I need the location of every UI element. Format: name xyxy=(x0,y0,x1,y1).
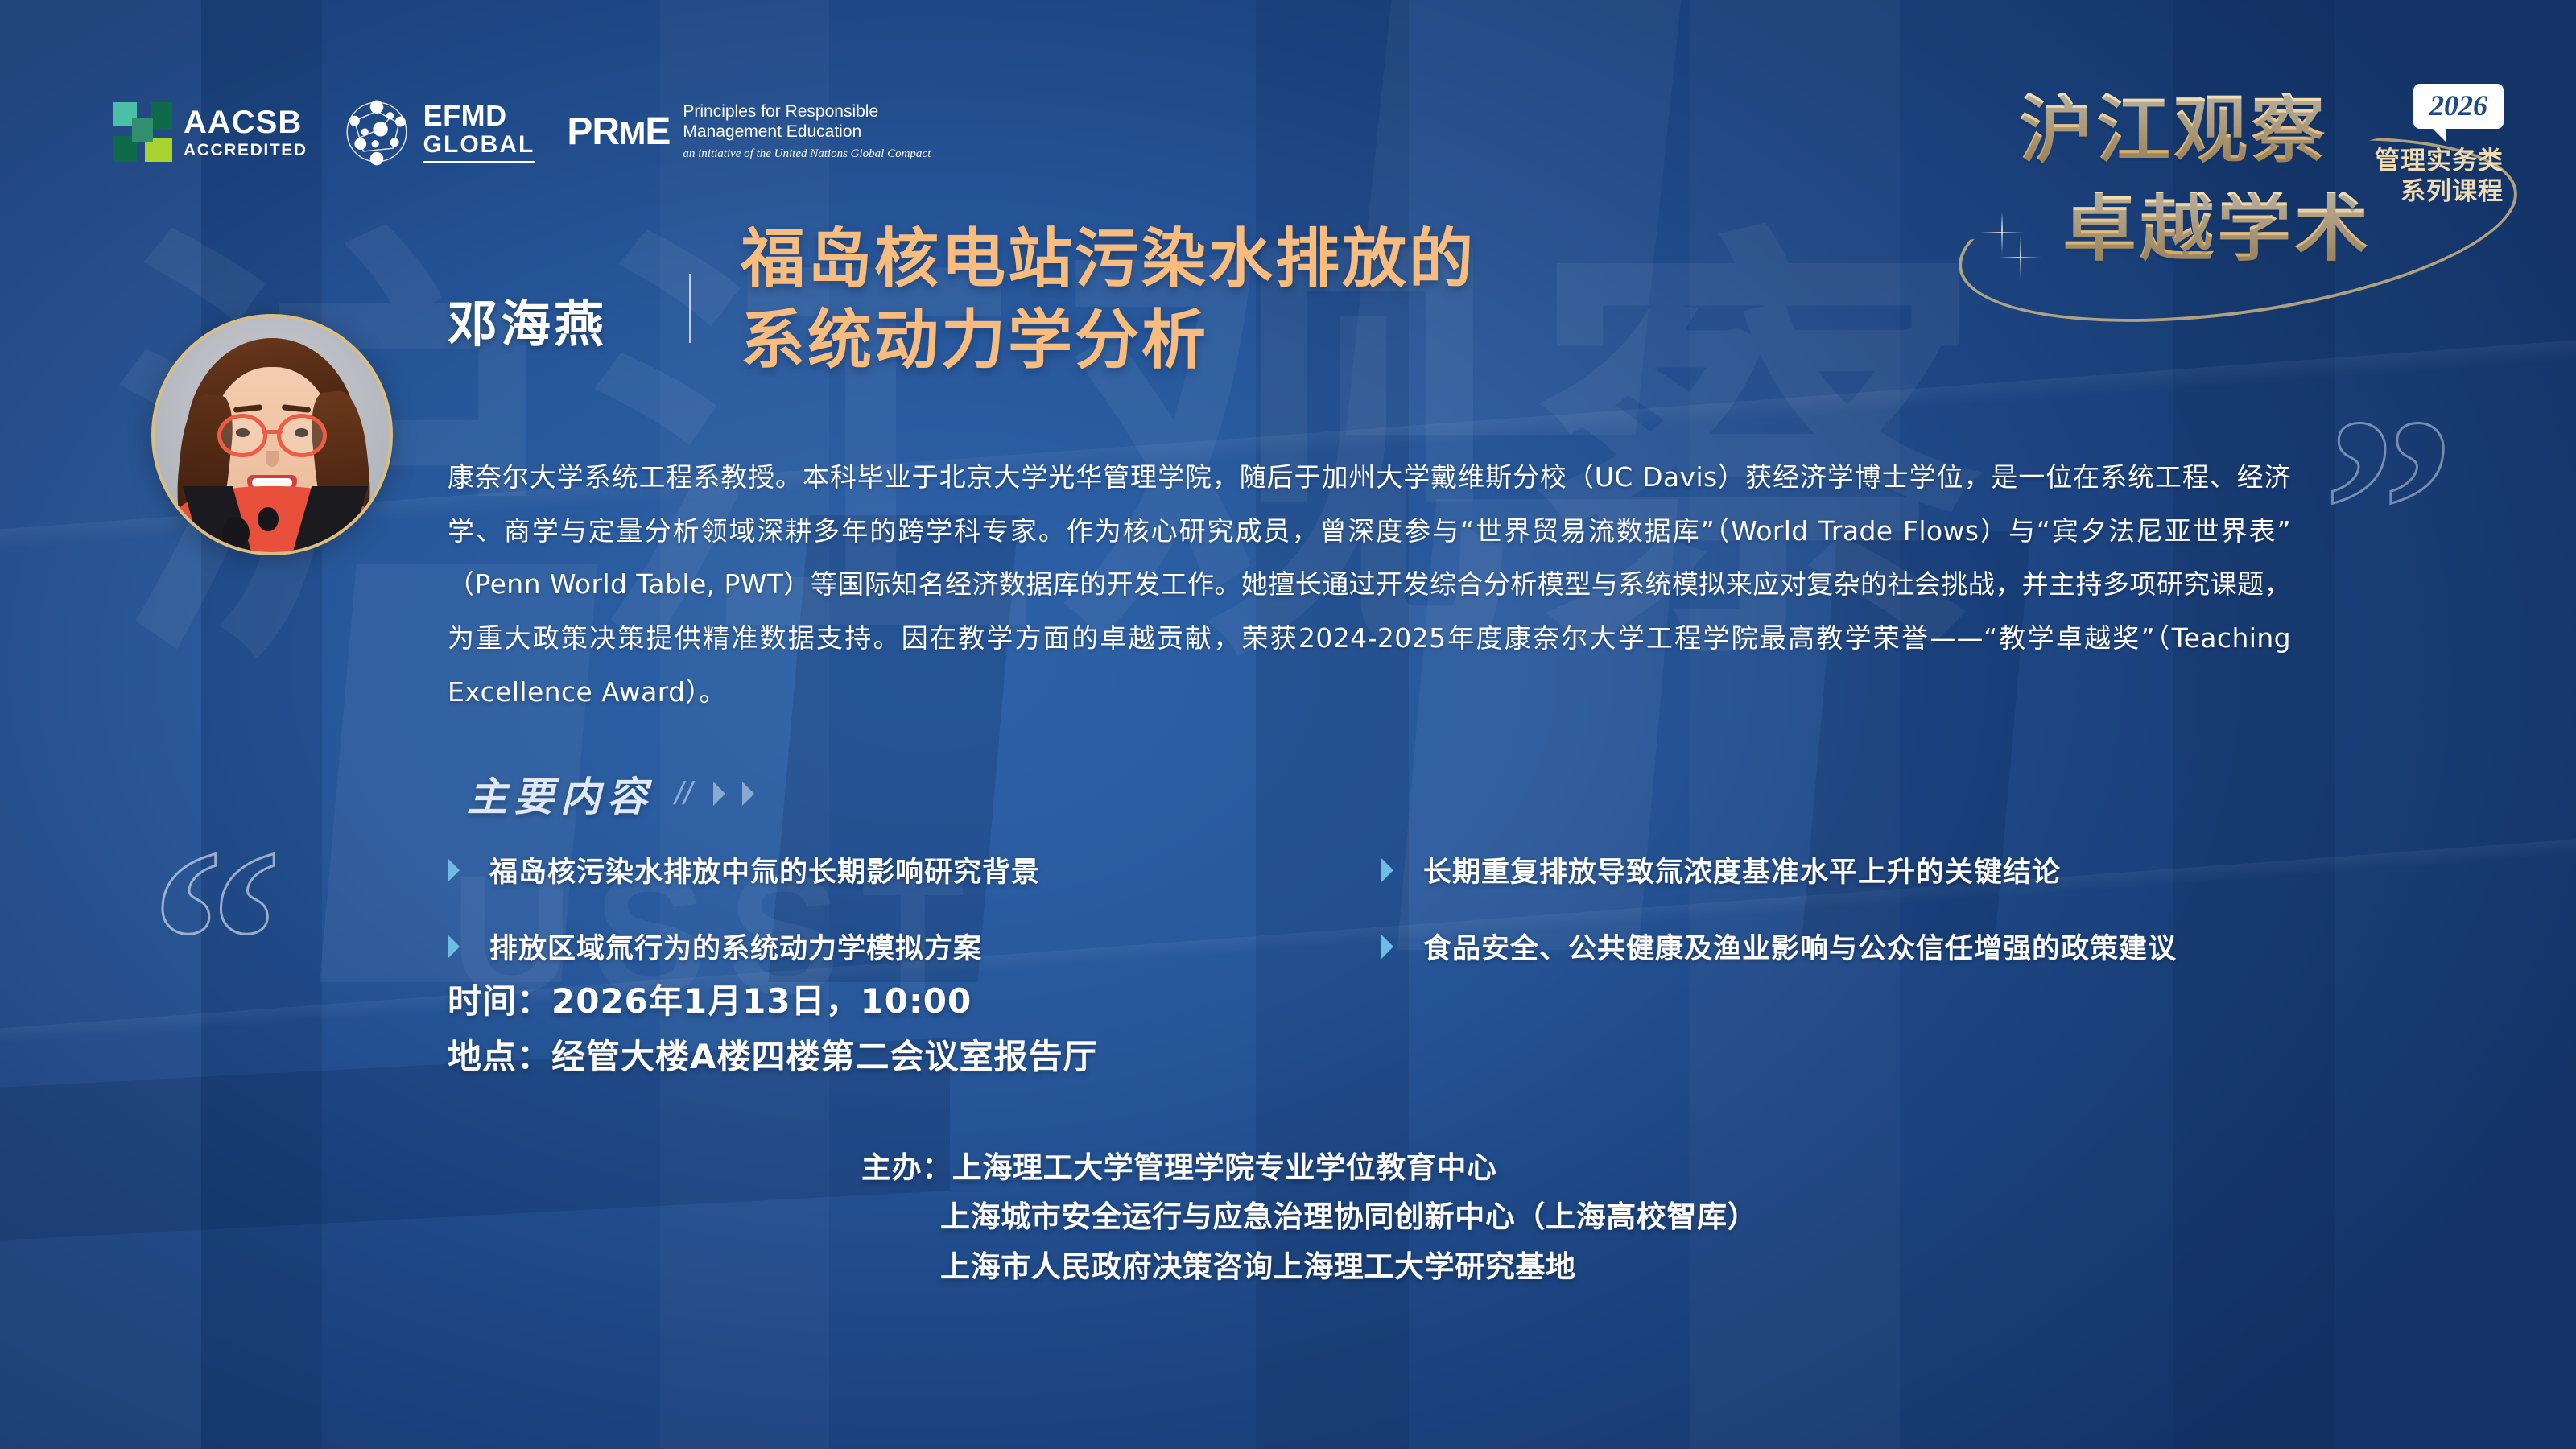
triangle-bullet-icon xyxy=(448,935,472,959)
prme-mark-e: E xyxy=(645,110,670,153)
bullet-item: 长期重复排放导致氚浓度基准水平上升的关键结论 xyxy=(1381,849,2283,890)
efmd-network-icon xyxy=(340,95,414,169)
brand-line-1: 沪江观察 xyxy=(2019,93,2328,167)
triangle-bullet-icon xyxy=(448,858,472,882)
accreditation-logos: AACSB ACCREDITED EFMD xyxy=(113,95,931,169)
quote-open-decor: “ xyxy=(150,809,283,1075)
aacsb-name: AACSB xyxy=(184,106,308,138)
poster-canvas: 沪江观察 USST AACSB ACCREDITED xyxy=(0,0,2576,1449)
event-location: 地点：经管大楼A楼四楼第二会议室报告厅 xyxy=(448,1030,1098,1085)
brand-subtitle-1: 管理实务类 xyxy=(2375,147,2504,177)
brand-subtitle: 管理实务类 系列课程 xyxy=(2375,147,2504,208)
triangle-bullet-icon xyxy=(1381,935,1406,959)
talk-title-line-1: 福岛核电站污染水排放的 xyxy=(741,219,1476,300)
sparkle-small-icon xyxy=(2009,246,2032,269)
organizer-line-2: 上海城市安全运行与应急治理协同创新中心（上海高校智库） xyxy=(861,1192,1757,1241)
prme-line-2: Management Education xyxy=(683,122,931,142)
organizers: 主办：上海理工大学管理学院专业学位教育中心 上海城市安全运行与应急治理协同创新中… xyxy=(861,1143,1757,1291)
aacsb-logo: AACSB ACCREDITED xyxy=(113,102,308,162)
talk-title-line-2: 系统动力学分析 xyxy=(741,300,1476,382)
efmd-name: EFMD xyxy=(423,101,535,130)
organizer-line-1: 主办：上海理工大学管理学院专业学位教育中心 xyxy=(861,1143,1757,1192)
aacsb-subtitle: ACCREDITED xyxy=(184,142,308,159)
prme-logo: PRME Principles for Responsible Manageme… xyxy=(567,102,931,162)
prme-line-1: Principles for Responsible xyxy=(683,102,931,122)
bullet-text: 福岛核污染水排放中氚的长期影响研究背景 xyxy=(489,849,1040,890)
series-brand: 沪江观察 卓越学术 2026 管理实务类 系列课程 xyxy=(2004,89,2504,298)
quote-close-decor: ” xyxy=(2322,378,2455,644)
main-content-slash: // xyxy=(675,776,692,812)
talk-title: 福岛核电站污染水排放的 系统动力学分析 xyxy=(741,219,1476,382)
bullet-item: 食品安全、公共健康及渔业影响与公众信任增强的政策建议 xyxy=(1381,926,2283,967)
main-content-bullets: 福岛核污染水排放中氚的长期影响研究背景 长期重复排放导致氚浓度基准水平上升的关键… xyxy=(448,849,2283,967)
prme-line-3: an initiative of the United Nations Glob… xyxy=(683,147,931,162)
organizer-line-3: 上海市人民政府决策咨询上海理工大学研究基地 xyxy=(861,1242,1757,1291)
bullet-text: 排放区域氚行为的系统动力学模拟方案 xyxy=(489,926,982,967)
bullet-text: 食品安全、公共健康及渔业影响与公众信任增强的政策建议 xyxy=(1423,926,2177,967)
bullet-item: 福岛核污染水排放中氚的长期影响研究背景 xyxy=(448,849,1349,890)
speaker-name: 邓海燕 xyxy=(448,283,607,356)
main-content-heading: 主要内容 // xyxy=(467,765,766,823)
event-time: 时间：2026年1月13日，10:00 xyxy=(448,974,1098,1030)
prme-mark: PRME xyxy=(567,113,670,151)
brand-subtitle-2: 系列课程 xyxy=(2375,177,2504,208)
year-badge: 2026 xyxy=(2413,84,2504,129)
chevron-right-icon xyxy=(713,782,766,806)
bullet-item: 排放区域氚行为的系统动力学模拟方案 xyxy=(448,926,1349,967)
efmd-subtitle: GLOBAL xyxy=(423,133,535,157)
bullet-text: 长期重复排放导致氚浓度基准水平上升的关键结论 xyxy=(1423,849,2061,890)
speaker-title-divider xyxy=(689,274,691,343)
main-content-title: 主要内容 xyxy=(467,765,654,823)
speaker-bio: 康奈尔大学系统工程系教授。本科毕业于北京大学光华管理学院，随后于加州大学戴维斯分… xyxy=(448,451,2291,719)
brand-line-2: 卓越学术 xyxy=(2062,192,2372,266)
prme-mark-pr: PR xyxy=(567,110,619,153)
event-meta: 时间：2026年1月13日，10:00 地点：经管大楼A楼四楼第二会议室报告厅 xyxy=(448,974,1098,1085)
speaker-avatar xyxy=(151,314,393,555)
aacsb-mark-icon xyxy=(113,102,172,162)
efmd-logo: EFMD GLOBAL xyxy=(340,95,535,169)
efmd-rule xyxy=(423,161,535,163)
prme-mark-m: M xyxy=(619,116,645,151)
triangle-bullet-icon xyxy=(1381,858,1406,882)
